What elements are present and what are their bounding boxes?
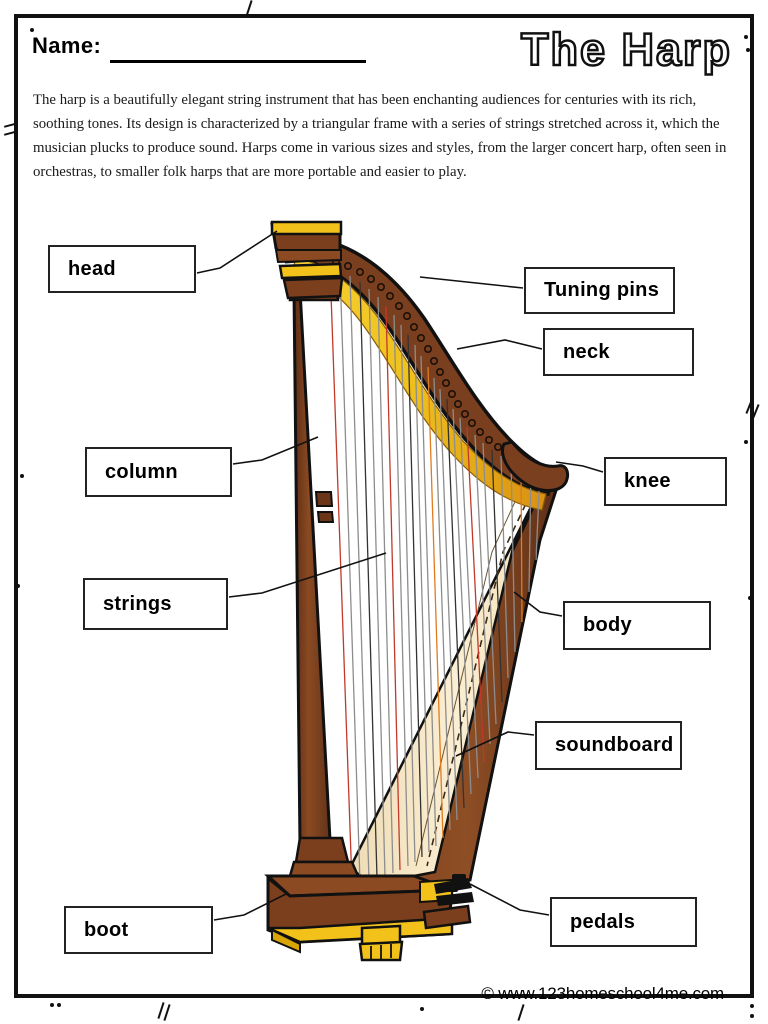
label-text-strings: strings [85,593,172,616]
label-box-head[interactable]: head [48,245,196,293]
label-box-neck[interactable]: neck [543,328,694,376]
label-text-column: column [87,461,178,484]
label-text-neck: neck [545,341,610,364]
footer-credit: © www.123homeschool4me.com [481,984,724,1004]
label-text-knee: knee [606,470,671,493]
worksheet-page: Name: The Harp The harp is a beautifully… [0,0,768,1024]
label-box-body[interactable]: body [563,601,711,650]
label-box-column[interactable]: column [85,447,232,497]
label-box-boot[interactable]: boot [64,906,213,954]
label-box-tuning-pins[interactable]: Tuning pins [524,267,675,314]
label-text-tuning-pins: Tuning pins [526,279,659,302]
harp-illustration [0,0,768,1024]
label-box-soundboard[interactable]: soundboard [535,721,682,770]
label-text-soundboard: soundboard [537,734,674,757]
label-text-body: body [565,614,632,637]
label-text-head: head [50,258,116,281]
label-text-pedals: pedals [552,911,635,934]
label-box-knee[interactable]: knee [604,457,727,506]
label-box-pedals[interactable]: pedals [550,897,697,947]
label-box-strings[interactable]: strings [83,578,228,630]
harp-head-group [272,222,342,298]
label-text-boot: boot [66,919,129,942]
